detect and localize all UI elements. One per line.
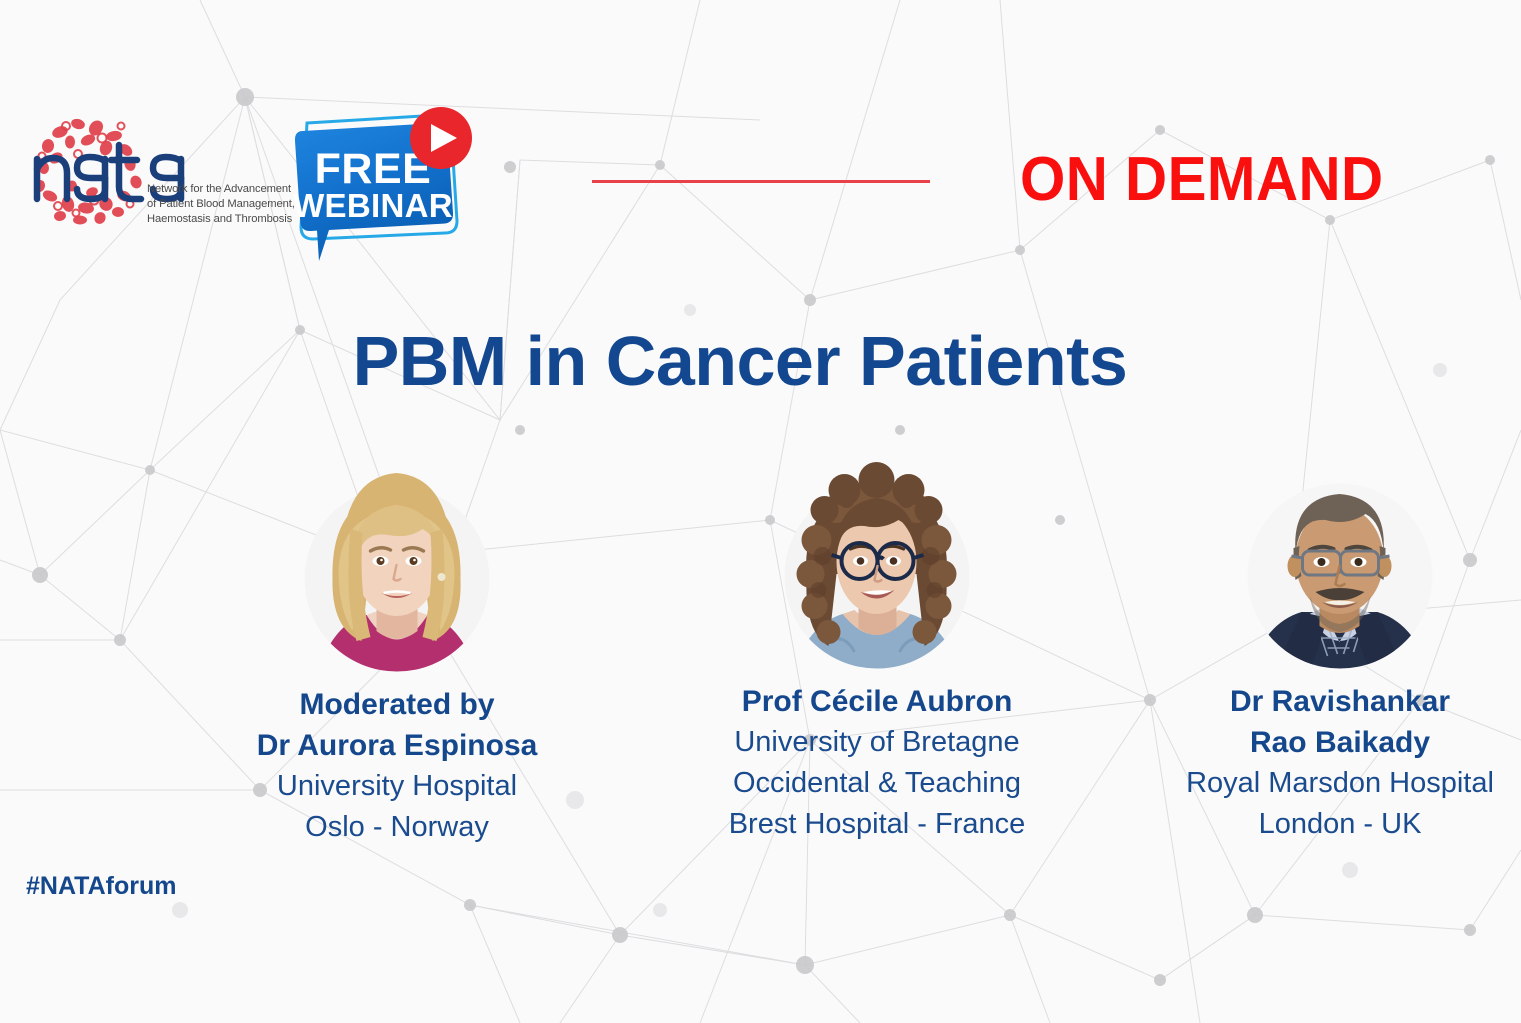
play-button-icon[interactable] [410,107,472,169]
hashtag-label: #NATAforum [26,872,176,901]
avatar [1248,456,1433,681]
speaker-affiliation-line-3: Brest Hospital - France [667,804,1087,845]
speaker-affiliation-line-1: University Hospital [187,766,607,807]
speaker-affiliation-line-1: Royal Marsdon Hospital [1130,763,1521,804]
speaker-name-line-2: Rao Baikady [1130,722,1521,763]
avatar [785,456,970,681]
red-divider-line [592,180,930,183]
on-demand-badge: ON DEMAND [1020,144,1384,215]
speaker-affiliation-line-1: University of Bretagne [667,722,1087,763]
webinar-poster: Network for the Advancement of Patient B… [0,0,1521,1023]
speaker-details: Moderated by Dr Aurora Espinosa Universi… [187,684,607,848]
page-title: PBM in Cancer Patients [0,321,1480,401]
speaker-role-label: Moderated by [187,684,607,725]
nata-logo: Network for the Advancement of Patient B… [26,108,296,240]
speaker-details: Prof Cécile Aubron University of Bretagn… [667,681,1087,845]
speaker-affiliation-line-2: Oslo - Norway [187,807,607,848]
speaker-name: Dr Aurora Espinosa [187,725,607,766]
speaker-affiliation-line-2: Occidental & Teaching [667,763,1087,804]
speaker-name-line-1: Dr Ravishankar [1130,681,1521,722]
speaker-affiliation-line-2: London - UK [1130,804,1521,845]
free-webinar-badge[interactable]: FREE WEBINAR [289,101,481,266]
avatar [305,459,490,684]
badge-webinar-label: WEBINAR [293,187,453,224]
speaker-name: Prof Cécile Aubron [667,681,1087,722]
speaker-details: Dr Ravishankar Rao Baikady Royal Marsdon… [1130,681,1521,845]
